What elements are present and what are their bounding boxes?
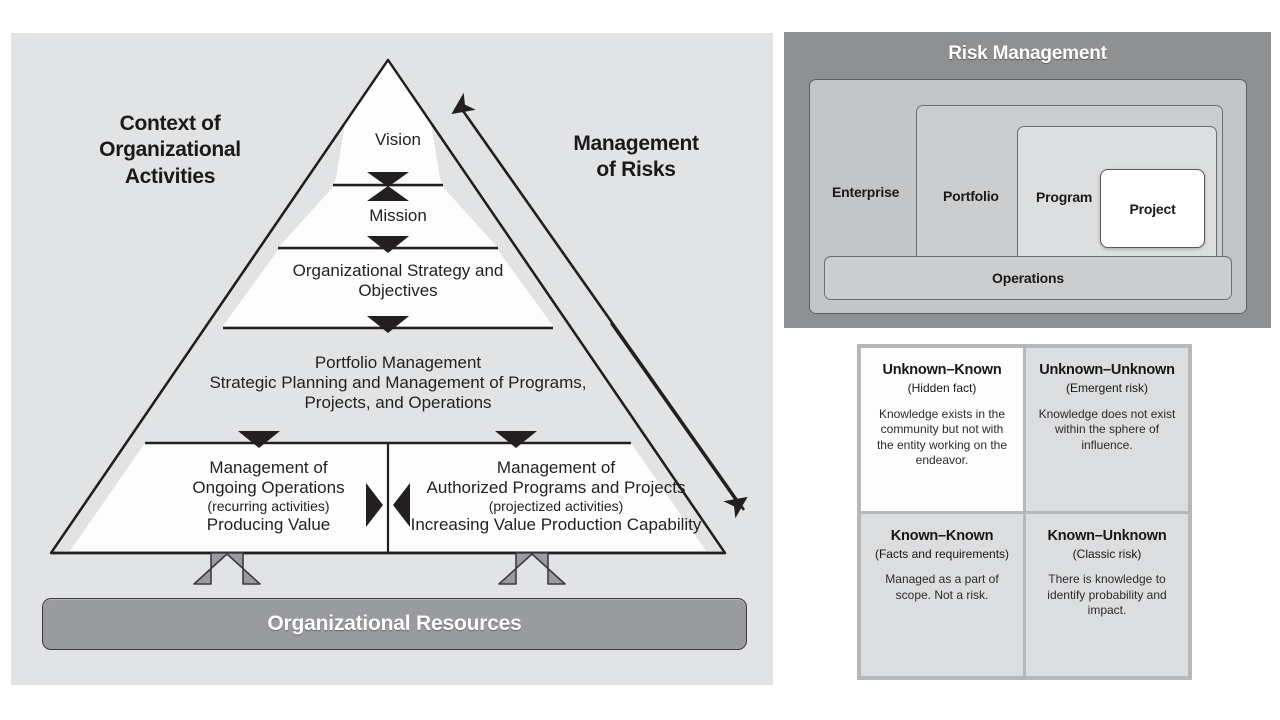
matrix-cell-subtitle: (Hidden fact) xyxy=(908,381,977,395)
resource-arrow-right xyxy=(499,553,565,584)
pyramid-base-left: Management of Ongoing Operations (recurr… xyxy=(156,458,381,535)
matrix-cell-unknown-known: Unknown–Known (Hidden fact) Knowledge ex… xyxy=(861,348,1023,511)
resource-arrow-left xyxy=(194,553,260,584)
base-left-title: Management of Ongoing Operations xyxy=(156,458,381,498)
rm-layer-project: Project xyxy=(1100,169,1205,248)
rm-layer-operations-label: Operations xyxy=(825,257,1231,299)
context-heading: Context of Organizational Activities xyxy=(45,111,295,190)
pyramid-level-vision: Vision xyxy=(318,130,478,150)
organizational-resources-bar: Organizational Resources xyxy=(42,598,747,650)
matrix-cell-body: There is knowledge to identify probabili… xyxy=(1038,572,1176,618)
rm-layer-program-label: Program xyxy=(1036,189,1092,205)
matrix-cell-subtitle: (Facts and requirements) xyxy=(875,547,1009,561)
pyramid-level-portfolio: Portfolio Management Strategic Planning … xyxy=(148,353,648,413)
matrix-cell-known-unknown: Known–Unknown (Classic risk) There is kn… xyxy=(1026,514,1188,677)
risk-management-title: Risk Management xyxy=(784,43,1271,65)
base-left-outcome: Producing Value xyxy=(156,515,381,535)
matrix-cell-known-known: Known–Known (Facts and requirements) Man… xyxy=(861,514,1023,677)
matrix-cell-title: Known–Known xyxy=(891,528,994,545)
matrix-cell-body: Managed as a part of scope. Not a risk. xyxy=(873,572,1011,603)
matrix-cell-title: Unknown–Known xyxy=(882,362,1001,379)
rm-layer-enterprise-label: Enterprise xyxy=(832,184,899,200)
rm-layer-operations: Operations xyxy=(824,256,1232,300)
base-right-outcome: Increasing Value Production Capability xyxy=(396,515,716,535)
pyramid-base-right: Management of Authorized Programs and Pr… xyxy=(396,458,716,535)
base-right-title: Management of Authorized Programs and Pr… xyxy=(396,458,716,498)
matrix-cell-subtitle: (Emergent risk) xyxy=(1066,381,1148,395)
matrix-cell-title: Known–Unknown xyxy=(1047,528,1166,545)
rm-layer-portfolio: Portfolio Program Project xyxy=(916,105,1223,275)
matrix-cell-body: Knowledge does not exist within the sphe… xyxy=(1038,407,1176,453)
matrix-cell-title: Unknown–Unknown xyxy=(1039,362,1175,379)
pyramid-level-mission: Mission xyxy=(318,206,478,226)
organizational-resources-label: Organizational Resources xyxy=(43,599,746,649)
rm-layer-enterprise: Enterprise Portfolio Program Project Ope… xyxy=(809,79,1247,314)
rm-layer-project-label: Project xyxy=(1101,170,1204,247)
matrix-cell-body: Knowledge exists in the community but no… xyxy=(873,407,1011,468)
knowledge-matrix: Unknown–Known (Hidden fact) Knowledge ex… xyxy=(857,344,1192,680)
rm-layer-portfolio-label: Portfolio xyxy=(943,188,999,204)
management-of-risks-heading: Management of Risks xyxy=(521,131,751,184)
base-right-note: (projectized activities) xyxy=(396,498,716,515)
matrix-cell-unknown-unknown: Unknown–Unknown (Emergent risk) Knowledg… xyxy=(1026,348,1188,511)
pyramid-level-strategy: Organizational Strategy and Objectives xyxy=(248,261,548,301)
organizational-activities-diagram: Context of Organizational Activities Man… xyxy=(11,33,773,685)
risk-management-diagram: Risk Management Enterprise Portfolio Pro… xyxy=(784,32,1271,328)
base-left-note: (recurring activities) xyxy=(156,498,381,515)
rm-layer-program: Program Project xyxy=(1017,126,1217,276)
matrix-cell-subtitle: (Classic risk) xyxy=(1073,547,1142,561)
